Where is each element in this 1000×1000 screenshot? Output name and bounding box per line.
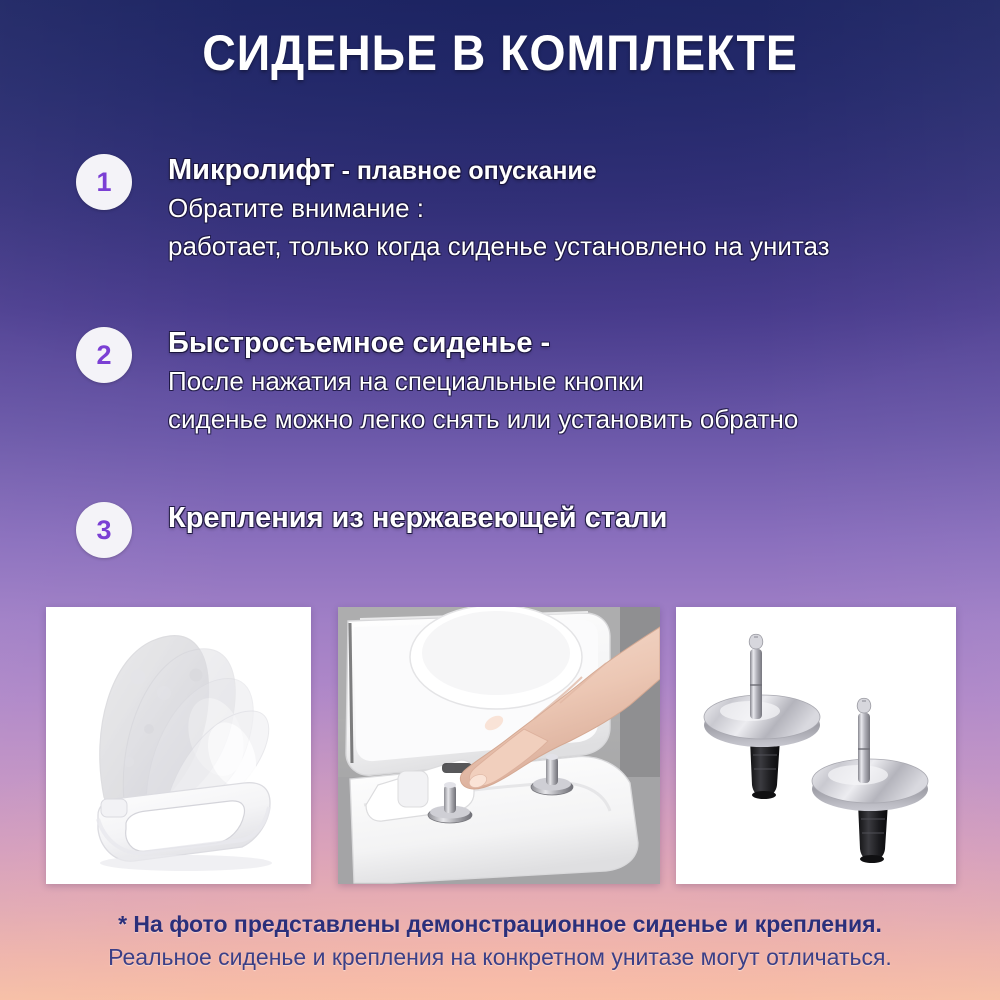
feature-line-2-2: сиденье можно легко снять или установить…: [168, 400, 1000, 438]
toilet-seat-softclose-photo: [46, 607, 311, 884]
feature-line-1-2: работает, только когда сиденье установле…: [168, 227, 1000, 265]
footer-line-1: * На фото представлены демонстрационное …: [0, 908, 1000, 940]
photo-gallery: [0, 607, 1000, 887]
feature-line-1-1: Обратите внимание :: [168, 189, 1000, 227]
photo-panel-quickrelease: [338, 607, 660, 884]
feature-list: 1 Микролифт - плавное опускание Обратите…: [0, 152, 1000, 560]
photo-panel-fasteners: [676, 607, 956, 884]
photo-panel-softclose: [46, 607, 311, 884]
feature-number-badge-2: 2: [76, 327, 132, 383]
feature-number-badge-1: 1: [76, 154, 132, 210]
footer-disclaimer: * На фото представлены демонстрационное …: [0, 908, 1000, 974]
page-title: СИДЕНЬЕ В КОМПЛЕКТЕ: [35, 24, 965, 82]
feature-heading-bold-1: Микролифт: [168, 154, 335, 186]
footer-line-2: Реальное сиденье и крепления на конкретн…: [0, 940, 1000, 974]
feature-item-2: 2 Быстросъемное сиденье - После нажатия …: [0, 325, 1000, 445]
feature-heading-bold-2: Быстросъемное сиденье -: [168, 327, 550, 359]
promo-page: СИДЕНЬЕ В КОМПЛЕКТЕ 1 Микролифт - плавно…: [0, 0, 1000, 1000]
stainless-steel-fasteners-photo: [676, 607, 956, 884]
feature-heading-1: Микролифт - плавное опускание: [168, 152, 1000, 189]
feature-heading-tail-1: - плавное опускание: [335, 157, 597, 185]
feature-heading-3: Крепления из нержавеющей стали: [168, 500, 1000, 537]
feature-line-2-1: После нажатия на специальные кнопки: [168, 362, 1000, 400]
feature-heading-2: Быстросъемное сиденье -: [168, 325, 1000, 362]
quick-release-seat-photo: [338, 607, 660, 884]
feature-item-3: 3 Крепления из нержавеющей стали: [0, 500, 1000, 560]
feature-number-badge-3: 3: [76, 502, 132, 558]
feature-item-1: 1 Микролифт - плавное опускание Обратите…: [0, 152, 1000, 272]
feature-heading-bold-3: Крепления из нержавеющей стали: [168, 502, 667, 534]
